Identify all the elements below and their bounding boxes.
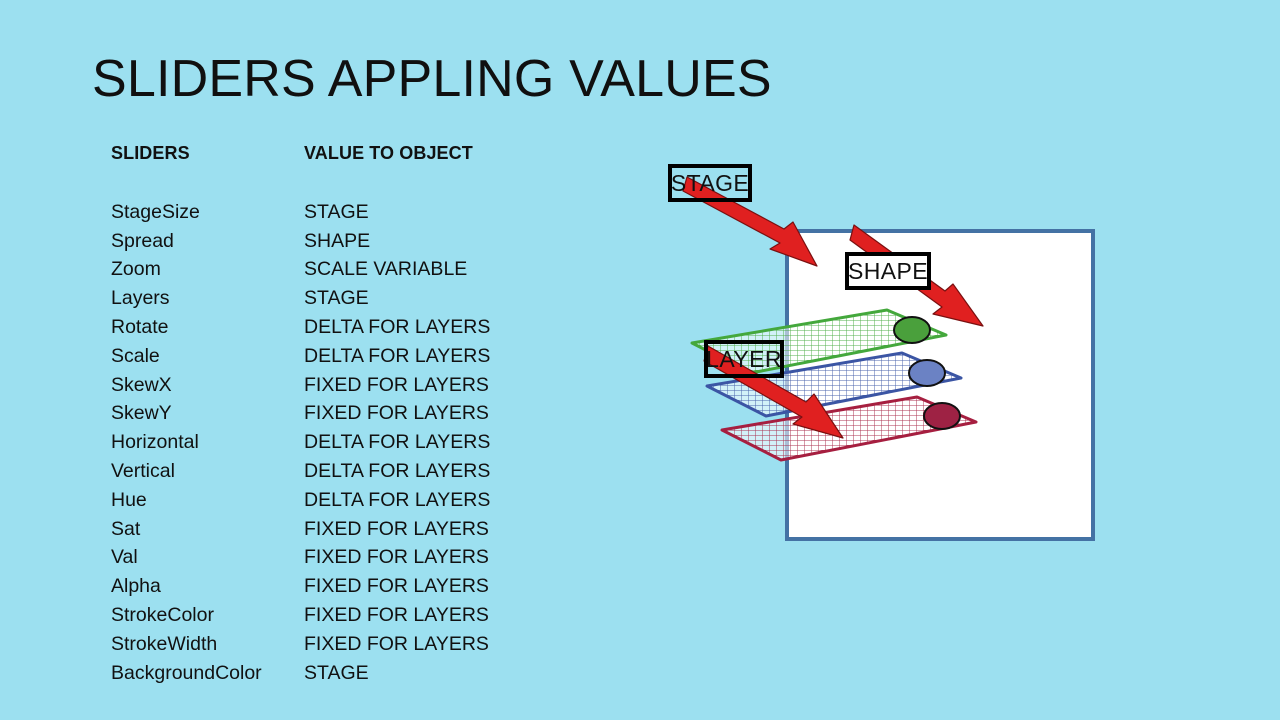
table-row: SkewYFIXED FOR LAYERS (111, 402, 581, 431)
page-title: SLIDERS APPLING VALUES (92, 52, 772, 106)
slider-name: Zoom (111, 258, 304, 281)
table-row: AlphaFIXED FOR LAYERS (111, 575, 581, 604)
red-layer-ellipse (924, 403, 960, 429)
slider-target-value: STAGE (304, 201, 581, 224)
slider-target-value: DELTA FOR LAYERS (304, 460, 581, 483)
table-row: StageSizeSTAGE (111, 201, 581, 230)
slider-target-value: DELTA FOR LAYERS (304, 316, 581, 339)
table-row: ScaleDELTA FOR LAYERS (111, 345, 581, 374)
slider-target-value: SHAPE (304, 230, 581, 253)
slider-name: Layers (111, 287, 304, 310)
slider-target-value: FIXED FOR LAYERS (304, 546, 581, 569)
table-row: HorizontalDELTA FOR LAYERS (111, 431, 581, 460)
table-row: BackgroundColorSTAGE (111, 662, 581, 691)
slider-name: BackgroundColor (111, 662, 304, 685)
slider-name: SkewX (111, 374, 304, 397)
table-row: LayersSTAGE (111, 287, 581, 316)
slider-target-value: DELTA FOR LAYERS (304, 345, 581, 368)
table-spacer (111, 172, 581, 201)
slider-name: Alpha (111, 575, 304, 598)
table-row: ZoomSCALE VARIABLE (111, 258, 581, 287)
slide-canvas: SLIDERS APPLING VALUES SLIDERS VALUE TO … (0, 0, 1280, 720)
slider-target-value: FIXED FOR LAYERS (304, 518, 581, 541)
slider-name: Rotate (111, 316, 304, 339)
slider-name: Hue (111, 489, 304, 512)
table-row: SkewXFIXED FOR LAYERS (111, 374, 581, 403)
table-row: SpreadSHAPE (111, 230, 581, 259)
slider-target-value: FIXED FOR LAYERS (304, 402, 581, 425)
slider-name: Horizontal (111, 431, 304, 454)
callout-layer: LAYER (704, 340, 784, 378)
slider-target-value: DELTA FOR LAYERS (304, 431, 581, 454)
slider-target-value: SCALE VARIABLE (304, 258, 581, 281)
slider-target-value: FIXED FOR LAYERS (304, 374, 581, 397)
slider-target-value: FIXED FOR LAYERS (304, 633, 581, 656)
slider-target-value: FIXED FOR LAYERS (304, 575, 581, 598)
blue-layer-ellipse (909, 360, 945, 386)
column-header-sliders: SLIDERS (111, 143, 304, 164)
table-row: StrokeWidthFIXED FOR LAYERS (111, 633, 581, 662)
slider-name: Sat (111, 518, 304, 541)
slider-target-value: STAGE (304, 662, 581, 685)
column-header-value: VALUE TO OBJECT (304, 143, 581, 164)
table-row: VerticalDELTA FOR LAYERS (111, 460, 581, 489)
slider-target-value: FIXED FOR LAYERS (304, 604, 581, 627)
slider-target-value: STAGE (304, 287, 581, 310)
slider-name: Val (111, 546, 304, 569)
table-row: RotateDELTA FOR LAYERS (111, 316, 581, 345)
slider-name: Scale (111, 345, 304, 368)
slider-name: StrokeColor (111, 604, 304, 627)
slider-name: StrokeWidth (111, 633, 304, 656)
slider-value-table: SLIDERS VALUE TO OBJECT StageSizeSTAGESp… (111, 143, 581, 690)
table-row: ValFIXED FOR LAYERS (111, 546, 581, 575)
callout-stage: STAGE (668, 164, 752, 202)
table-body: StageSizeSTAGESpreadSHAPEZoomSCALE VARIA… (111, 201, 581, 691)
slider-target-value: DELTA FOR LAYERS (304, 489, 581, 512)
green-layer-ellipse (894, 317, 930, 343)
slider-name: Spread (111, 230, 304, 253)
table-header-row: SLIDERS VALUE TO OBJECT (111, 143, 581, 172)
table-row: HueDELTA FOR LAYERS (111, 489, 581, 518)
slider-name: SkewY (111, 402, 304, 425)
slider-name: Vertical (111, 460, 304, 483)
table-row: StrokeColorFIXED FOR LAYERS (111, 604, 581, 633)
table-row: SatFIXED FOR LAYERS (111, 518, 581, 547)
slider-name: StageSize (111, 201, 304, 224)
callout-shape: SHAPE (845, 252, 931, 290)
